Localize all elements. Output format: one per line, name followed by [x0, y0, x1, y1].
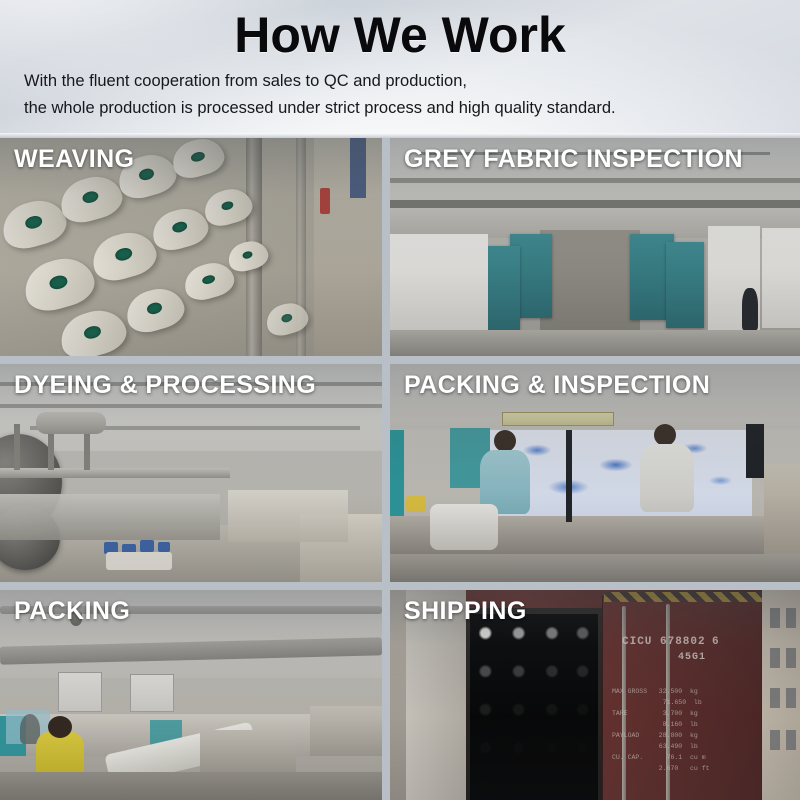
cell-label-packing: PACKING [14, 597, 130, 626]
gallery-cell-packing[interactable]: PACKING [0, 590, 382, 800]
gallery-cell-grey-fabric-inspection[interactable]: GREY FABRIC INSPECTION [390, 138, 800, 356]
cell-label-shipping: SHIPPING [404, 597, 527, 626]
cell-label-weaving: WEAVING [14, 145, 134, 174]
page-header: How We Work With the fluent cooperation … [0, 0, 800, 138]
subtitle-line-2: the whole production is processed under … [24, 95, 616, 122]
gallery-cell-dyeing-and-processing[interactable]: DYEING & PROCESSING [0, 364, 382, 582]
subtitle-line-1: With the fluent cooperation from sales t… [24, 68, 616, 95]
process-gallery-grid: WEAVING GREY FABRIC INSPECTION [0, 138, 800, 800]
cell-label-dyeing-and-processing: DYEING & PROCESSING [14, 371, 316, 400]
gallery-cell-shipping[interactable]: CICU 678802 6 45G1 MAX GROSS 32.500 kg 7… [390, 590, 800, 800]
page-title: How We Work [0, 8, 800, 62]
cell-label-grey-fabric-inspection: GREY FABRIC INSPECTION [404, 145, 743, 174]
gallery-cell-weaving[interactable]: WEAVING [0, 138, 382, 356]
page-subtitle: With the fluent cooperation from sales t… [24, 68, 616, 121]
how-we-work-page: How We Work With the fluent cooperation … [0, 0, 800, 800]
gallery-cell-packing-and-inspection[interactable]: PACKING & INSPECTION [390, 364, 800, 582]
cell-label-packing-and-inspection: PACKING & INSPECTION [404, 371, 710, 400]
